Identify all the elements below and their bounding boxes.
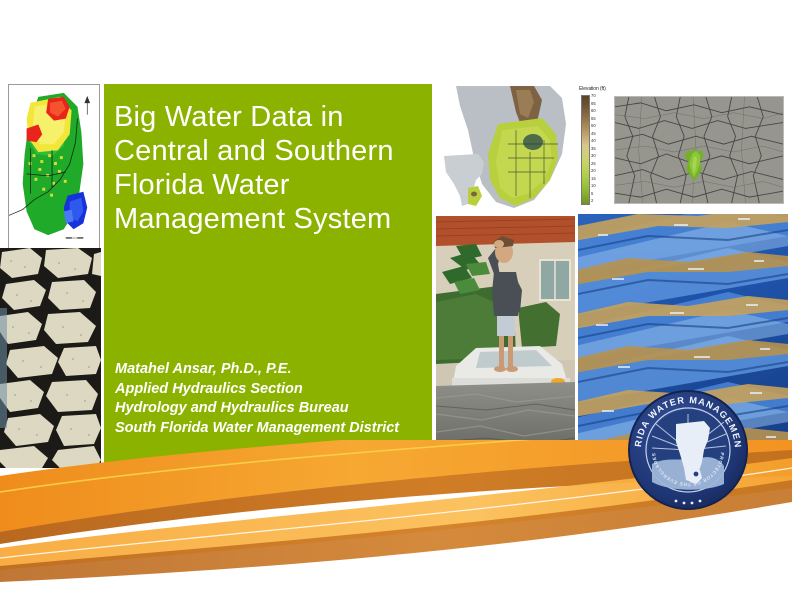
- elevation-legend-title: Elevation (ft): [579, 86, 606, 92]
- author-organization: South Florida Water Management District: [115, 419, 431, 439]
- rainfall-raster-map: [8, 84, 100, 249]
- author-bureau: Hydrology and Hydraulics Bureau: [115, 399, 431, 419]
- author-name: Matahel Ansar, Ph.D., P.E.: [115, 360, 431, 380]
- author-block: Matahel Ansar, Ph.D., P.E. Applied Hydra…: [115, 360, 431, 438]
- florida-elevation-map: [438, 84, 578, 212]
- elevation-tick: 35: [591, 147, 596, 151]
- presentation-slide: Elevation (ft) 70 65 60 55 50 45 40 35 3…: [0, 0, 792, 612]
- elevation-tick: 2: [591, 199, 593, 203]
- elevation-tick: 25: [591, 162, 596, 166]
- elevation-tick: 65: [591, 102, 596, 106]
- sfwmd-logo: SOUTH FLORIDA WATER MANAGEMENT DISTRICT …: [626, 388, 750, 512]
- title-block: Big Water Data in Central and Southern F…: [104, 84, 432, 468]
- dry-cracked-soil-aerial: [614, 96, 784, 204]
- elevation-tick: 40: [591, 139, 596, 143]
- elevation-tick: 5: [591, 192, 593, 196]
- author-section: Applied Hydraulics Section: [115, 380, 431, 400]
- elevation-tick: 10: [591, 184, 596, 188]
- elevation-tick: 55: [591, 117, 596, 121]
- elevation-tick: 70: [591, 94, 596, 98]
- elevation-tick: 60: [591, 109, 596, 113]
- elevation-legend: Elevation (ft) 70 65 60 55 50 45 40 35 3…: [578, 86, 614, 212]
- elevation-tick: 50: [591, 124, 596, 128]
- flood-street-photo: [436, 216, 575, 470]
- elevation-tick: 15: [591, 177, 596, 181]
- elevation-tick: 30: [591, 154, 596, 158]
- elevation-tick: 45: [591, 132, 596, 136]
- cracked-dry-earth-photo: [0, 248, 101, 468]
- elevation-tick-labels: 70 65 60 55 50 45 40 35 30 25 20 15 10 5…: [591, 94, 613, 206]
- elevation-tick: 20: [591, 169, 596, 173]
- elevation-colorbar: [581, 95, 590, 205]
- page-title: Big Water Data in Central and Southern F…: [114, 100, 432, 236]
